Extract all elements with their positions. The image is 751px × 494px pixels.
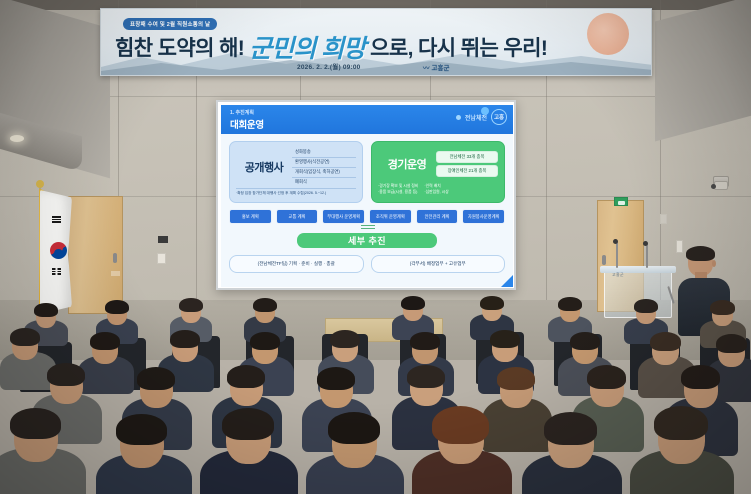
- banner-headline-highlight: 군민의 희망: [249, 29, 365, 65]
- person-hair: [328, 412, 380, 444]
- person-hair: [432, 406, 489, 444]
- security-camera-icon: [714, 181, 728, 190]
- panel-public-events-title: 공개행사: [236, 159, 292, 175]
- status-badge: 전남체전 33개 종목: [436, 151, 498, 163]
- person-hair: [490, 330, 520, 348]
- wave-logo-icon: 〰: [423, 62, 430, 72]
- notes-column-left: ·경기장 확보 및 시설 정비 ·용품 보급(시설, 용품 등): [378, 184, 418, 195]
- taeguk-symbol-icon: [50, 242, 67, 259]
- door-plate: [111, 271, 120, 276]
- microphone-stem: [616, 242, 618, 268]
- person-hair: [222, 408, 274, 440]
- person-hair: [634, 299, 658, 313]
- person-hair: [179, 298, 203, 312]
- chip-plan: 홍보 계획: [229, 209, 272, 224]
- trigram-geon-icon: [52, 216, 61, 224]
- event-banner: 표창패 수여 및 2월 직원소통의 날 힘찬 도약의 해! 군민의 희망 으로,…: [100, 8, 652, 76]
- conference-hall-photo: 표창패 수여 및 2월 직원소통의 날 힘찬 도약의 해! 군민의 희망 으로,…: [0, 0, 751, 494]
- slide-header: 1. 추진계획 대회운영 전남체전 고흥: [221, 105, 513, 134]
- person-hair: [137, 367, 175, 390]
- panel-public-events: 공개행사 성화봉송 환영행사(식전공연) 개회식(입장식, 축하공연) 폐회식 …: [229, 141, 363, 203]
- downlight-icon: [10, 135, 24, 142]
- wall-plate: [660, 214, 667, 224]
- list-item: 폐회식: [292, 178, 356, 187]
- wall-plate: [157, 253, 166, 264]
- person-hair: [105, 300, 129, 314]
- podium-label: 고흥군: [612, 272, 624, 278]
- panel-competition-ops-badges: 전남체전 33개 종목 장애인체전 21개 종목: [436, 151, 498, 178]
- slide-org-badge: 고흥: [491, 109, 507, 125]
- person-hair: [317, 367, 355, 390]
- person-hair: [34, 303, 58, 317]
- trigram-gon-icon: [52, 268, 61, 276]
- person-hair: [497, 367, 535, 390]
- list-item: 성화봉송: [292, 148, 356, 158]
- list-item: ·심판임원, 시상: [424, 190, 448, 196]
- chip-plan: 교통 계획: [276, 209, 319, 224]
- person-hair: [681, 365, 720, 389]
- microphone-icon: [643, 241, 648, 246]
- person-hair: [10, 408, 61, 439]
- list-item: 환영행사(식전공연): [292, 158, 356, 168]
- person-ear: [712, 260, 716, 267]
- panel-competition-ops-title: 경기운영: [378, 156, 436, 172]
- person-hair: [650, 332, 681, 351]
- microphone-icon: [613, 239, 618, 244]
- person-hair: [410, 332, 440, 350]
- panel-public-events-list: 성화봉송 환영행사(식전공연) 개회식(입장식, 축하공연) 폐회식: [292, 148, 356, 187]
- chip-plan: 부대행사 운영계획: [322, 209, 365, 224]
- list-item: 개회식(입장식, 축하공연): [292, 168, 356, 178]
- person-hair: [480, 296, 504, 310]
- status-badge: 장애인체전 21개 종목: [436, 165, 498, 177]
- exit-sign-icon: [614, 197, 628, 206]
- person-hair: [250, 332, 280, 350]
- person-hair: [401, 296, 425, 310]
- dot-icon: [456, 115, 461, 120]
- door-handle-icon: [113, 253, 117, 263]
- chip-plan: 안전관리 계획: [416, 209, 459, 224]
- wall-seam-horizontal: [0, 96, 751, 97]
- person-hair: [253, 298, 277, 312]
- audience-seating: [0, 298, 751, 494]
- banner-headline-part2: 으로, 다시 뛰는 우리!: [370, 32, 547, 62]
- person-hair: [116, 414, 167, 445]
- person-hair: [227, 365, 265, 388]
- slide-title: 대회운영: [230, 117, 264, 131]
- slide-logo-group: 전남체전 고흥: [456, 109, 507, 125]
- person-hair: [544, 412, 597, 445]
- list-item: ·경기장 확보 및 시설 정비: [378, 184, 418, 190]
- panel-public-events-note: ·확정 입장 참가단체 대행사 선정 후 계획 수립(2026. 5.~12.): [236, 188, 356, 196]
- footer-box-tf-team: (전남체전TF팀) 기획 · 준비 · 실행 · 총괄: [229, 255, 364, 273]
- flag-finial-icon: [36, 180, 44, 188]
- wall-switch-icon: [158, 236, 168, 243]
- slide-logo-text: 전남체전: [465, 113, 487, 122]
- person-hair: [587, 365, 626, 389]
- notes-column-right: ·인력 배치 ·심판임원, 시상: [424, 184, 448, 195]
- banner-headline: 힘찬 도약의 해! 군민의 희망 으로, 다시 뛰는 우리!: [115, 29, 639, 65]
- slide-chip-row: 홍보 계획 교통 계획 부대행사 운영계획 조직위 운영계획 안전관리 계획 자…: [229, 209, 505, 224]
- chip-plan: 자원봉사운영계획: [462, 209, 505, 224]
- connector-lines: [361, 225, 375, 230]
- detail-execution-bar: 세부 추진: [297, 233, 437, 248]
- banner-org-name: 고흥군: [432, 62, 450, 72]
- person-hair: [570, 332, 600, 350]
- banner-org-logo: 〰 고흥군: [423, 62, 449, 72]
- banner-headline-part1: 힘찬 도약의 해!: [115, 32, 244, 62]
- person-hair: [710, 300, 735, 315]
- person-hair: [330, 330, 360, 348]
- slide-corner-accent: [501, 275, 513, 287]
- person-hair: [654, 406, 708, 440]
- footer-box-departments: (각부서) 배정업무 + 고유업무: [371, 255, 506, 273]
- panel-competition-ops-notes: ·경기장 확보 및 시설 정비 ·용품 보급(시설, 용품 등) ·인력 배치 …: [378, 184, 498, 195]
- person-hair: [407, 365, 445, 388]
- list-item: ·용품 보급(시설, 용품 등): [378, 190, 418, 196]
- chip-plan: 조직위 운영계획: [369, 209, 412, 224]
- door-handle-icon: [602, 255, 606, 265]
- person-hair: [716, 334, 747, 353]
- person-hair: [47, 363, 85, 386]
- person-hair: [10, 328, 40, 346]
- person-hair: [90, 332, 120, 350]
- projection-screen: 1. 추진계획 대회운영 전남체전 고흥 공개행사 성화봉송 환영행사(식전공연…: [216, 100, 516, 290]
- slide-section-number: 1. 추진계획: [230, 109, 254, 116]
- slide-footer-row: (전남체전TF팀) 기획 · 준비 · 실행 · 총괄 (각부서) 배정업무 +…: [229, 255, 505, 273]
- panel-competition-ops: 경기운영 전남체전 33개 종목 장애인체전 21개 종목 ·경기장 확보 및 …: [371, 141, 505, 203]
- door-left: [68, 196, 123, 314]
- person-hair: [686, 246, 715, 261]
- person-hair: [558, 297, 582, 311]
- microphone-stem: [646, 244, 648, 268]
- person-hair: [170, 330, 200, 348]
- flag-cloth: [40, 190, 72, 314]
- presentation-slide: 1. 추진계획 대회운영 전남체전 고흥 공개행사 성화봉송 환영행사(식전공연…: [221, 105, 513, 287]
- banner-date: 2026. 2. 2.(월) 09:00: [297, 61, 360, 71]
- slide-panel-row: 공개행사 성화봉송 환영행사(식전공연) 개회식(입장식, 축하공연) 폐회식 …: [229, 141, 505, 203]
